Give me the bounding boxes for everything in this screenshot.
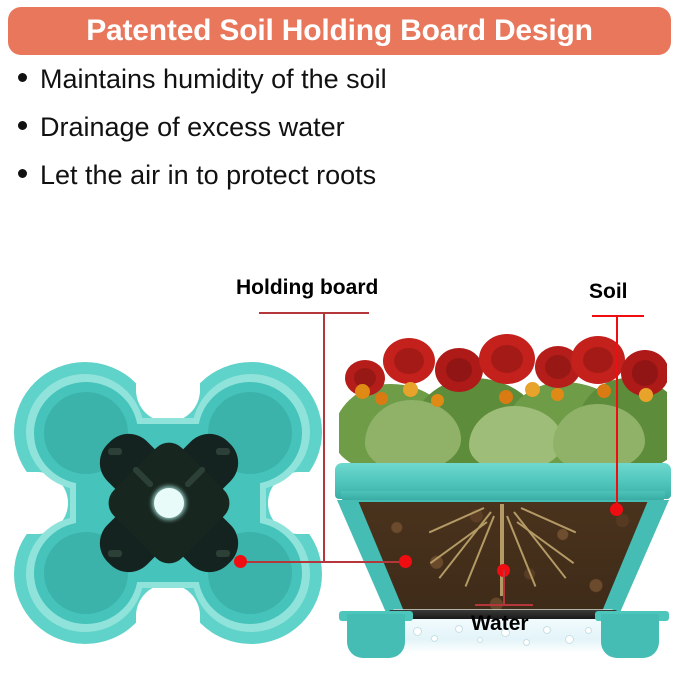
root	[438, 511, 491, 578]
flower-bloom	[479, 334, 535, 384]
water-bubble	[477, 637, 483, 643]
bullet-icon	[18, 169, 27, 178]
board-vent-icon	[108, 448, 122, 455]
feature-label: Let the air in to protect roots	[40, 162, 376, 189]
water-bubble	[523, 639, 530, 646]
flower-bloom-small	[375, 392, 388, 405]
flower-bloom-small	[525, 382, 540, 397]
flower-bloom	[435, 348, 483, 392]
flower-bloom-small	[597, 384, 611, 398]
feature-item: Maintains humidity of the soil	[18, 66, 658, 93]
water-bubble	[413, 627, 422, 636]
holding-board-marker-dot-right	[399, 555, 412, 568]
board-vent-icon	[216, 448, 230, 455]
flower-bloom-small	[431, 394, 444, 407]
soil-connector-tbar	[592, 315, 644, 317]
flower-bloom-small	[403, 382, 418, 397]
callout-label-soil: Soil	[589, 281, 628, 302]
board-vent-icon	[216, 550, 230, 557]
flower-bloom-small	[355, 384, 370, 399]
feature-item: Let the air in to protect roots	[18, 162, 658, 189]
planter-foot	[347, 614, 405, 658]
water-bubble	[543, 626, 551, 634]
flower-bloom-small	[551, 388, 564, 401]
holding-board-marker-dot-left	[234, 555, 247, 568]
board-vent-icon	[108, 550, 122, 557]
water-bubble	[565, 635, 574, 644]
soil-connector-vertical	[616, 315, 618, 510]
holding-board-connector-vertical	[323, 312, 325, 562]
flower-bloom	[383, 338, 435, 384]
water-bubble	[431, 635, 438, 642]
water-bubble	[455, 625, 463, 633]
header-banner: Patented Soil Holding Board Design	[8, 7, 671, 55]
water-bubble	[585, 627, 592, 634]
water-connector-vertical	[503, 570, 505, 606]
soil-marker-dot	[610, 503, 623, 516]
holding-board-top-view	[74, 408, 264, 598]
flower-bloom-small	[639, 388, 653, 402]
page-title: Patented Soil Holding Board Design	[86, 16, 593, 46]
callout-label-holding-board: Holding board	[236, 277, 378, 298]
holding-board-connector-horizontal	[241, 561, 407, 563]
callout-label-water: Water	[471, 613, 529, 634]
water-connector-tbar	[475, 604, 533, 606]
drain-hole	[154, 488, 184, 518]
flower-bloom-small	[499, 390, 513, 404]
root	[513, 511, 566, 578]
feature-list: Maintains humidity of the soil Drainage …	[18, 66, 658, 210]
planter-foot	[601, 614, 659, 658]
feature-label: Drainage of excess water	[40, 114, 345, 141]
feature-label: Maintains humidity of the soil	[40, 66, 387, 93]
holding-board-connector-tbar	[259, 312, 369, 314]
feature-item: Drainage of excess water	[18, 114, 658, 141]
top-view-clover-pot	[8, 360, 328, 646]
product-diagram: Holding board Soil Water	[0, 248, 679, 646]
bullet-icon	[18, 73, 27, 82]
bullet-icon	[18, 121, 27, 130]
